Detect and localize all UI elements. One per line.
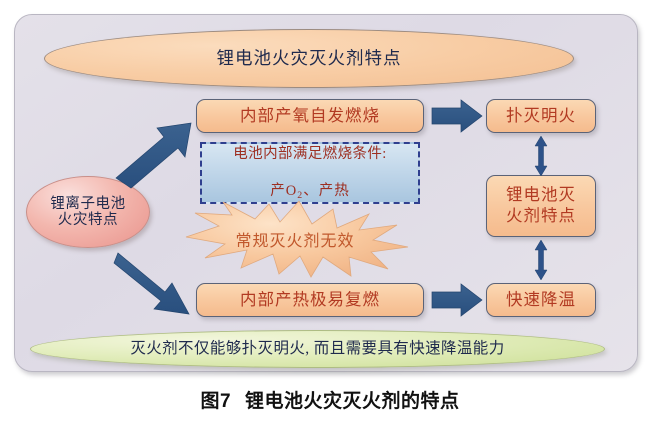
- node-agent-features: 锂电池灭 火剂特点: [486, 175, 596, 237]
- node-agent-features-line2: 火剂特点: [506, 206, 576, 227]
- node-extinguish-flame: 扑灭明火: [486, 99, 596, 133]
- node-combustion-condition: 电池内部满足燃烧条件: 产O2、产热: [200, 142, 420, 204]
- node-conventional-agent-ineffective-label: 常规灭火剂无效: [235, 227, 354, 251]
- node-internal-heat-label: 内部产热极易复燃: [240, 291, 380, 309]
- node-combustion-condition-line2: 产O2、产热: [270, 164, 349, 202]
- node-extinguish-flame-label: 扑灭明火: [506, 107, 576, 125]
- node-internal-heat: 内部产热极易复燃: [196, 283, 424, 317]
- figure-caption-title: 锂电池火灾灭火剂的特点: [245, 386, 460, 413]
- node-rapid-cooling-label: 快速降温: [506, 291, 576, 309]
- node-combustion-condition-line1: 电池内部满足燃烧条件:: [233, 145, 386, 164]
- node-source-ellipse-line1: 锂离子电池: [50, 196, 126, 212]
- node-agent-features-line1: 锂电池灭: [506, 185, 576, 206]
- node-internal-oxygen: 内部产氧自发燃烧: [196, 99, 424, 133]
- node-title-ellipse-label: 锂电池火灾灭火剂特点: [217, 49, 402, 69]
- figure-caption: 图7 锂电池火灾灭火剂的特点: [0, 382, 660, 416]
- node-internal-oxygen-label: 内部产氧自发燃烧: [240, 107, 380, 125]
- node-rapid-cooling: 快速降温: [486, 283, 596, 317]
- node-conclusion-ellipse-label: 灭火剂不仅能够扑灭明火, 而且需要具有快速降温能力: [130, 340, 504, 357]
- node-conventional-agent-ineffective-label-wrap: 常规灭火剂无效: [183, 200, 411, 278]
- figure-caption-number: 图7: [200, 386, 231, 413]
- node-title-ellipse: 锂电池火灾灭火剂特点: [44, 29, 574, 88]
- node-conventional-agent-ineffective: 常规灭火剂无效: [183, 200, 411, 278]
- condition-formula-suffix: 、产热: [303, 183, 350, 199]
- condition-formula-prefix: 产O: [270, 183, 297, 199]
- node-source-ellipse: 锂离子电池 火灾特点: [26, 176, 150, 248]
- figure-root: 锂电池火灾灭火剂特点 锂离子电池 火灾特点 内部产氧自发燃烧 电池内部满足燃烧条…: [0, 0, 660, 424]
- node-conclusion-ellipse: 灭火剂不仅能够扑灭明火, 而且需要具有快速降温能力: [30, 330, 605, 368]
- node-source-ellipse-line2: 火灾特点: [58, 212, 118, 228]
